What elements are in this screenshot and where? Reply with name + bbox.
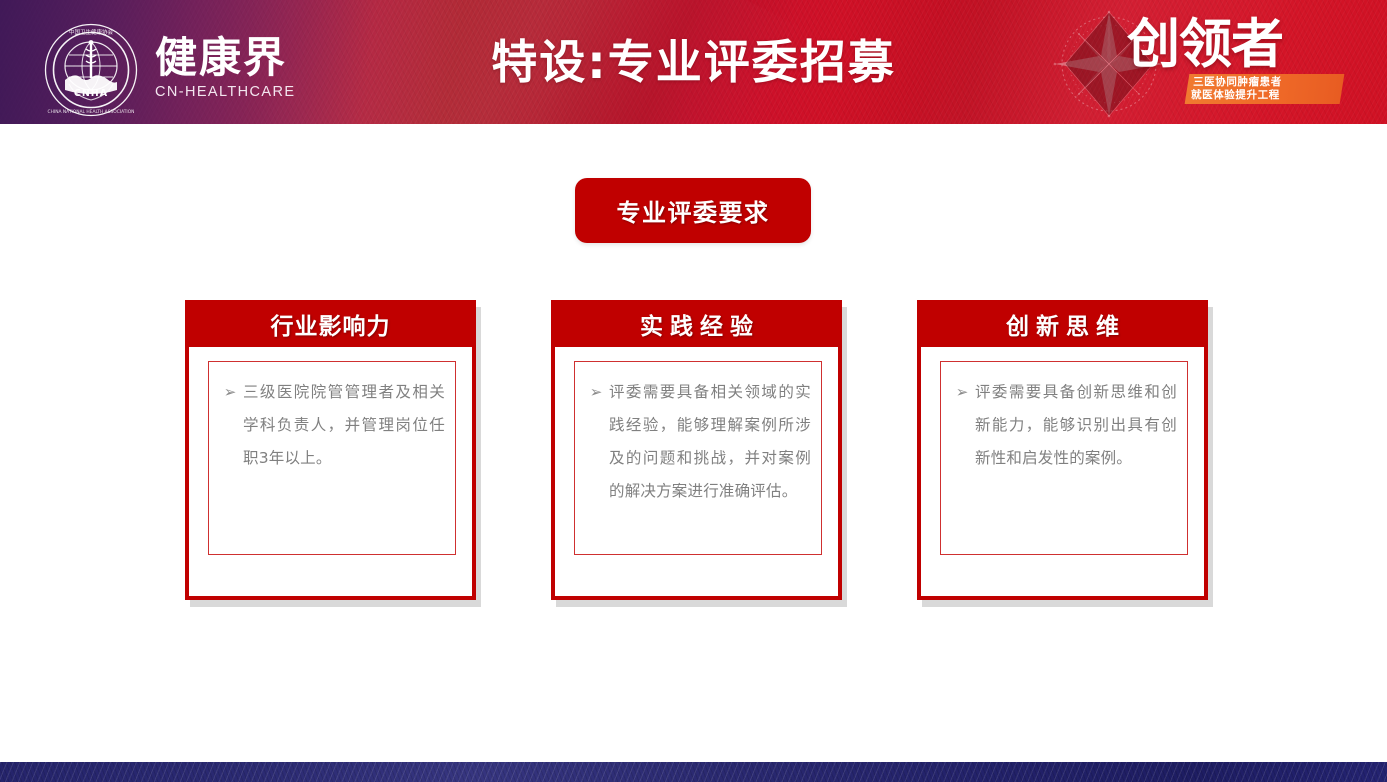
bullet-list-item: ➢ 评委需要具备创新思维和创新能力，能够识别出具有创新性和启发性的案例。 (949, 376, 1177, 475)
arrow-bullet-icon: ➢ (217, 376, 243, 409)
card-body-text: 三级医院院管管理者及相关学科负责人，并管理岗位任职3年以上。 (243, 376, 445, 475)
program-logo-subtitle: 三医协同肿瘤患者 就医体验提升工程 (1185, 74, 1345, 104)
requirement-cards-row: 行业影响力 ➢ 三级医院院管管理者及相关学科负责人，并管理岗位任职3年以上。 实… (0, 300, 1387, 620)
card-title: 行业影响力 (271, 307, 391, 341)
bullet-list-item: ➢ 评委需要具备相关领域的实践经验，能够理解案例所涉及的问题和挑战，并对案例的解… (583, 376, 811, 508)
card-body: ➢ 评委需要具备创新思维和创新能力，能够识别出具有创新性和启发性的案例。 (917, 347, 1208, 600)
program-logo-subtitle-line1: 三医协同肿瘤患者 (1193, 76, 1339, 89)
footer-texture-overlay (0, 762, 1387, 782)
card-header: 创新思维 (917, 300, 1208, 347)
card-header: 实践经验 (551, 300, 842, 347)
header-banner: CNHA 中国卫生健康协会 CHINA NATIONAL HEALTH ASSO… (0, 0, 1387, 124)
bullet-list-item: ➢ 三级医院院管管理者及相关学科负责人，并管理岗位任职3年以上。 (217, 376, 445, 475)
svg-text:CHINA NATIONAL HEALTH ASSOCIAT: CHINA NATIONAL HEALTH ASSOCIATION (48, 109, 135, 115)
card-title: 实践经验 (633, 307, 760, 341)
program-logo-title: 创领者 (1127, 16, 1283, 74)
slide-canvas: CNHA 中国卫生健康协会 CHINA NATIONAL HEALTH ASSO… (0, 0, 1387, 782)
card-body: ➢ 评委需要具备相关领域的实践经验，能够理解案例所涉及的问题和挑战，并对案例的解… (551, 347, 842, 600)
requirement-card-practical-experience: 实践经验 ➢ 评委需要具备相关领域的实践经验，能够理解案例所涉及的问题和挑战，并… (551, 300, 842, 600)
section-heading-label: 专业评委要求 (617, 193, 770, 228)
program-logo-subtitle-line2: 就医体验提升工程 (1191, 89, 1337, 102)
section-heading-pill[interactable]: 专业评委要求 (575, 178, 811, 243)
card-title: 创新思维 (999, 307, 1126, 341)
card-header: 行业影响力 (185, 300, 476, 347)
requirement-card-innovative-thinking: 创新思维 ➢ 评委需要具备创新思维和创新能力，能够识别出具有创新性和启发性的案例… (917, 300, 1208, 600)
card-inner-box: ➢ 评委需要具备创新思维和创新能力，能够识别出具有创新性和启发性的案例。 (940, 361, 1188, 555)
requirement-card-industry-influence: 行业影响力 ➢ 三级医院院管管理者及相关学科负责人，并管理岗位任职3年以上。 (185, 300, 476, 600)
card-body-text: 评委需要具备相关领域的实践经验，能够理解案例所涉及的问题和挑战，并对案例的解决方… (609, 376, 811, 508)
arrow-bullet-icon: ➢ (583, 376, 609, 409)
card-body: ➢ 三级医院院管管理者及相关学科负责人，并管理岗位任职3年以上。 (185, 347, 476, 600)
card-inner-box: ➢ 三级医院院管管理者及相关学科负责人，并管理岗位任职3年以上。 (208, 361, 456, 555)
card-inner-box: ➢ 评委需要具备相关领域的实践经验，能够理解案例所涉及的问题和挑战，并对案例的解… (574, 361, 822, 555)
program-logo: 创领者 三医协同肿瘤患者 就医体验提升工程 (1045, 4, 1345, 122)
footer-bar (0, 762, 1387, 782)
arrow-bullet-icon: ➢ (949, 376, 975, 409)
card-body-text: 评委需要具备创新思维和创新能力，能够识别出具有创新性和启发性的案例。 (975, 376, 1177, 475)
